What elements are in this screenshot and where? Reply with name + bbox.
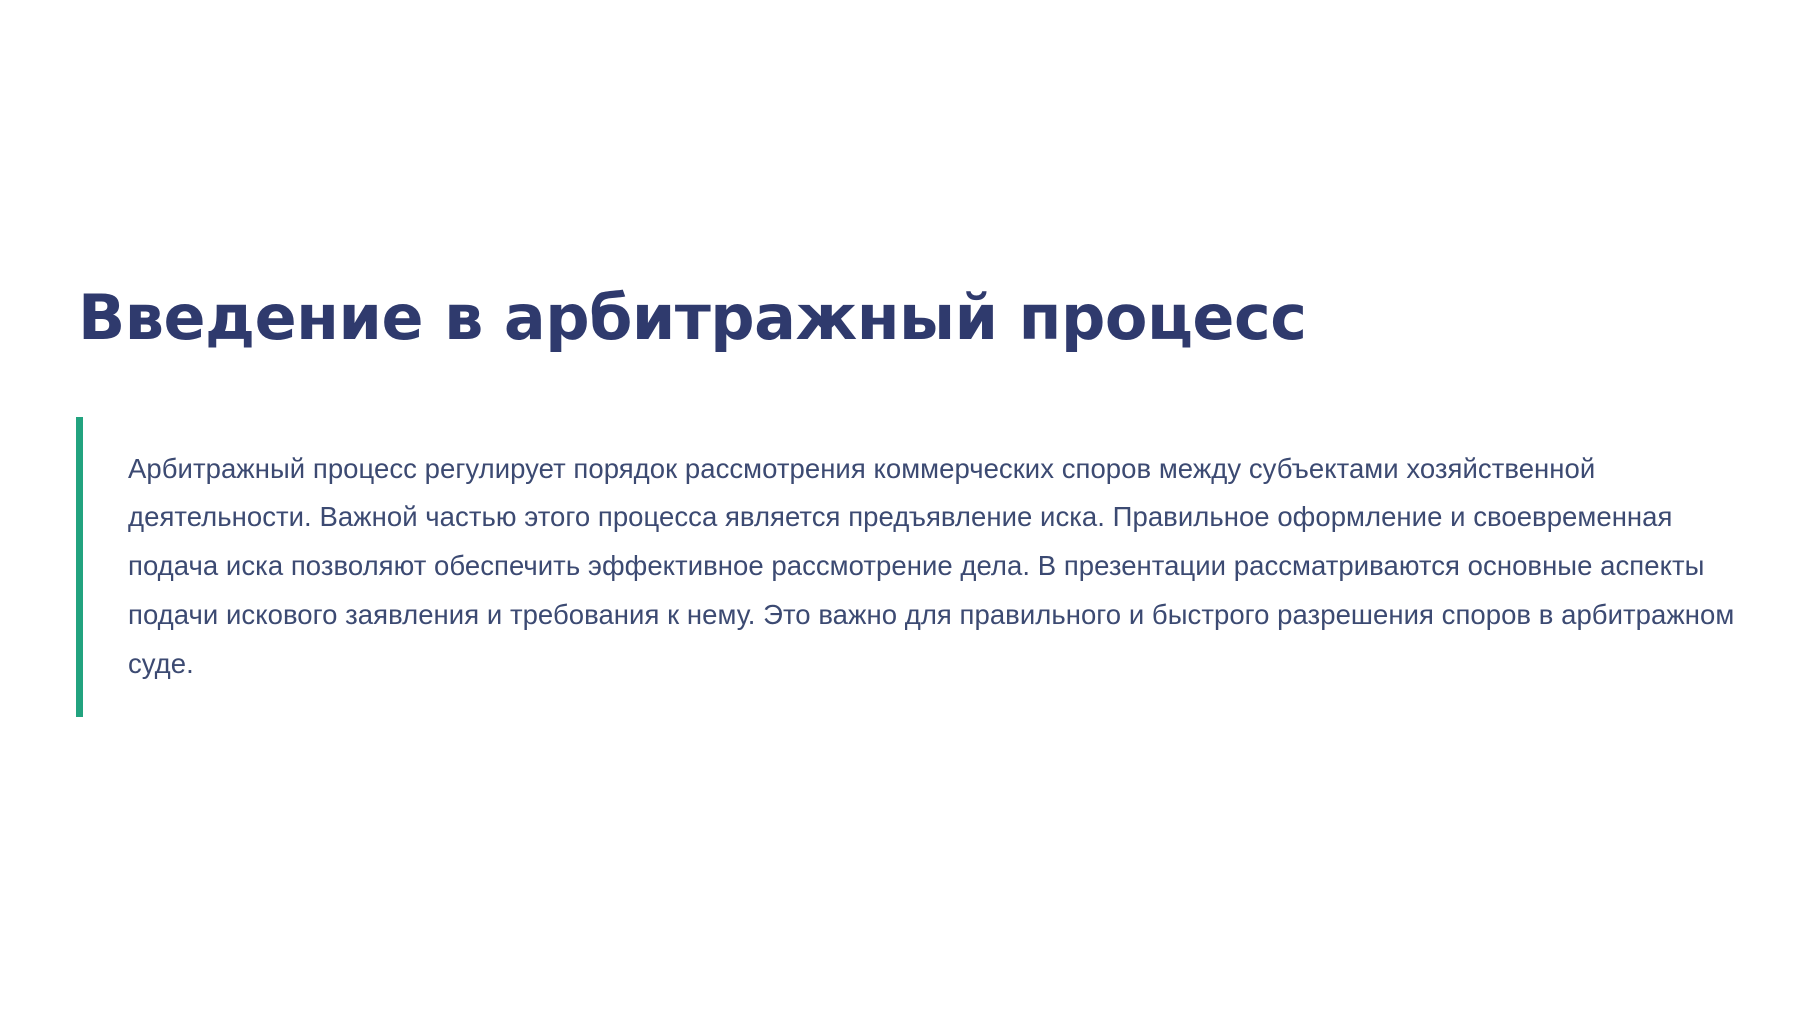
page-title: Введение в арбитражный процесс bbox=[78, 285, 1718, 352]
body-callout: Арбитражный процесс регулирует порядок р… bbox=[76, 417, 1736, 717]
accent-bar bbox=[76, 417, 83, 717]
body-paragraph: Арбитражный процесс регулирует порядок р… bbox=[83, 445, 1736, 690]
presentation-slide: Введение в арбитражный процесс Арбитражн… bbox=[0, 0, 1800, 1013]
